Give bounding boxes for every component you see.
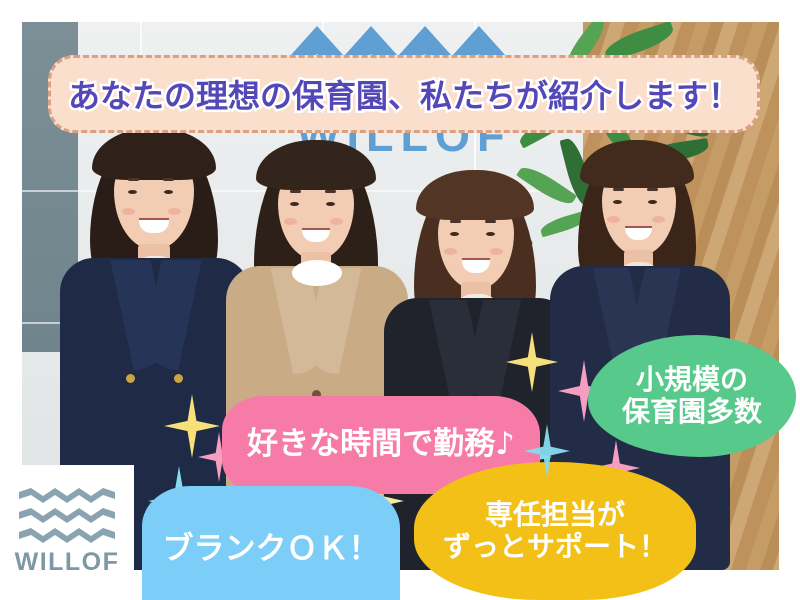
eye xyxy=(486,232,495,236)
eyebrow xyxy=(485,220,496,223)
bubble-line-1: 小規模の xyxy=(636,364,748,396)
blush xyxy=(490,248,503,255)
eyebrow xyxy=(290,190,301,193)
bubble-blank-ok: ブランクＯＫ！ xyxy=(142,486,400,600)
blush xyxy=(444,248,457,255)
eye xyxy=(648,200,657,204)
zigzag-icon xyxy=(19,508,115,523)
jacket-button xyxy=(126,374,135,383)
willof-logo: WILLOF xyxy=(0,465,134,600)
blush xyxy=(607,216,620,223)
bubble-dedicated-support: 専任担当が ずっとサポート！ xyxy=(414,462,696,600)
eye xyxy=(128,190,137,194)
eyebrow xyxy=(450,220,461,223)
bubble-line-1: ブランクＯＫ！ xyxy=(163,532,380,567)
collar xyxy=(292,260,342,286)
bubble-line-2: ずっとサポート！ xyxy=(443,531,667,563)
eye xyxy=(450,232,459,236)
zigzag-icon xyxy=(19,528,115,543)
zigzag-icon xyxy=(19,488,115,503)
bubble-line-1: 好きな時間で勤務♪ xyxy=(247,427,515,462)
jacket-button xyxy=(174,374,183,383)
blush xyxy=(284,218,297,225)
headline-text: あなたの理想の保育園、私たちが紹介します！ xyxy=(68,71,740,117)
eyebrow xyxy=(128,178,139,181)
eye xyxy=(164,190,173,194)
bubble-line-2: 保育園多数 xyxy=(622,396,762,428)
eye xyxy=(613,200,622,204)
advertisement-banner: WILLOF xyxy=(0,0,800,600)
blush xyxy=(652,216,665,223)
bubble-line-1: 専任担当が xyxy=(485,499,625,531)
eyebrow xyxy=(613,188,624,191)
blush xyxy=(330,218,343,225)
eye xyxy=(326,202,335,206)
eyebrow xyxy=(647,188,658,191)
blush xyxy=(168,208,181,215)
willof-wordmark: WILLOF xyxy=(15,548,120,577)
eye xyxy=(290,202,299,206)
headline-banner: あなたの理想の保育園、私たちが紹介します！ xyxy=(48,55,760,133)
eyebrow xyxy=(325,190,336,193)
eyebrow xyxy=(163,178,174,181)
blush xyxy=(122,208,135,215)
bubble-small-nursery: 小規模の 保育園多数 xyxy=(588,335,796,457)
